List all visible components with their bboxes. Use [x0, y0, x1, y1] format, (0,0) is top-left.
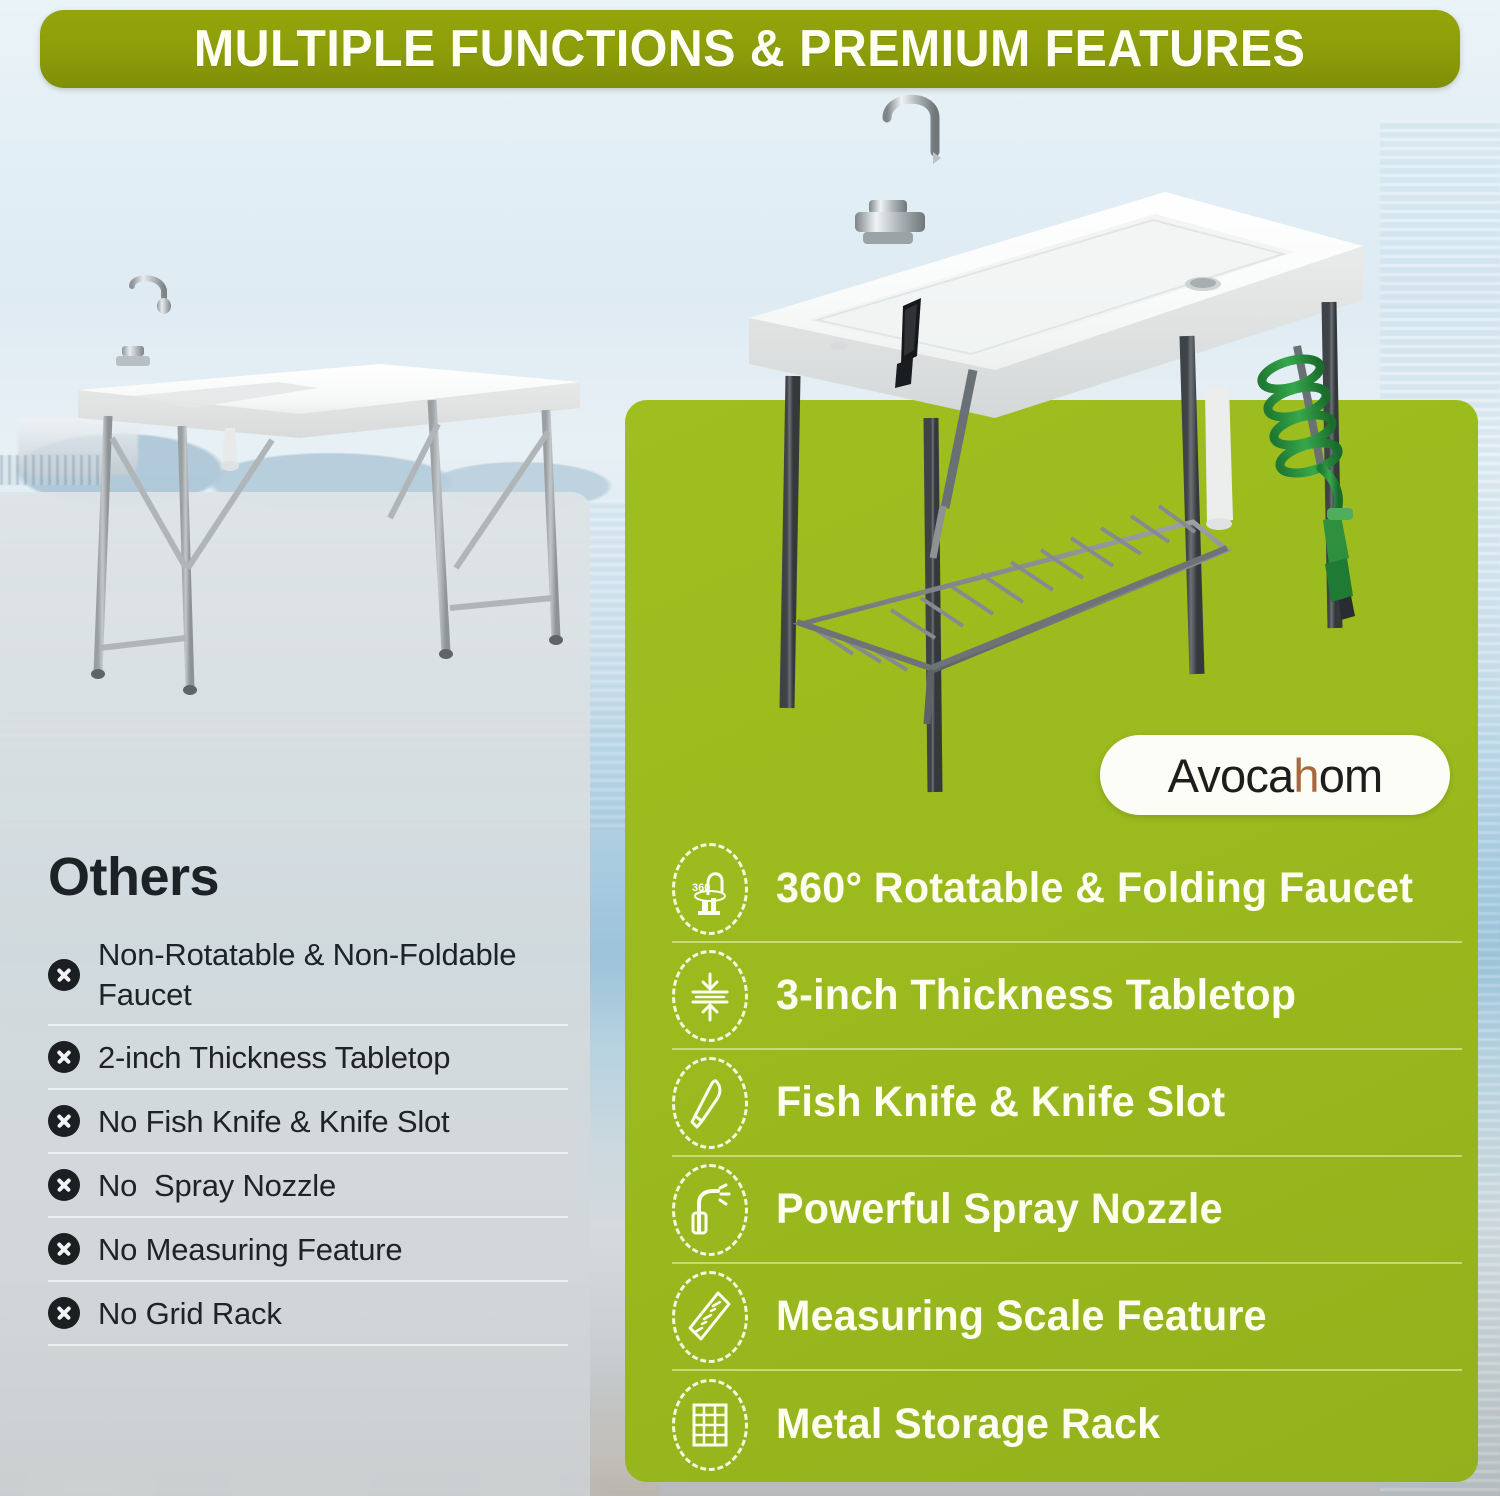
others-item-label: 2-inch Thickness Tabletop — [98, 1038, 450, 1078]
brand-name: Avocahom — [1168, 748, 1383, 803]
others-list-item: Non-Rotatable & Non-Foldable Faucet — [48, 925, 568, 1026]
x-circle-icon — [48, 1233, 80, 1265]
header-banner: MULTIPLE FUNCTIONS & PREMIUM FEATURES — [40, 10, 1460, 88]
grid-rack-icon — [672, 1379, 748, 1471]
brand-chair-h-icon: h — [1293, 749, 1318, 802]
others-list-item: 2-inch Thickness Tabletop — [48, 1026, 568, 1090]
brand-name-part1: Avoca — [1168, 749, 1294, 802]
others-list-item: No Fish Knife & Knife Slot — [48, 1090, 568, 1154]
others-item-label: No Fish Knife & Knife Slot — [98, 1102, 449, 1142]
others-item-label: No Spray Nozzle — [98, 1166, 336, 1206]
feature-list-item: Fish Knife & Knife Slot — [672, 1050, 1462, 1157]
avocahom-folding-table-photo — [735, 88, 1375, 818]
rotatable-faucet-icon: 360 — [672, 843, 748, 935]
others-list-item: No Grid Rack — [48, 1282, 568, 1346]
knife-icon — [672, 1057, 748, 1149]
others-item-label: No Grid Rack — [98, 1294, 282, 1334]
feature-item-label: Powerful Spray Nozzle — [776, 1185, 1223, 1234]
feature-list-item: Measuring Scale Feature — [672, 1264, 1462, 1371]
others-heading: Others — [48, 846, 219, 908]
x-circle-icon — [48, 1297, 80, 1329]
spray-nozzle-icon — [672, 1164, 748, 1256]
others-item-label: Non-Rotatable & Non-Foldable Faucet — [98, 935, 568, 1014]
feature-list-item: Metal Storage Rack — [672, 1371, 1462, 1478]
feature-list-item: Powerful Spray Nozzle — [672, 1157, 1462, 1264]
others-list: Non-Rotatable & Non-Foldable Faucet 2-in… — [48, 925, 568, 1346]
competitor-folding-table-photo — [60, 268, 630, 698]
feature-item-label: 360° Rotatable & Folding Faucet — [776, 864, 1413, 913]
brand-logo-badge: Avocahom — [1100, 735, 1450, 815]
feature-item-label: Metal Storage Rack — [776, 1400, 1160, 1449]
feature-item-label: Fish Knife & Knife Slot — [776, 1078, 1225, 1127]
x-circle-icon — [48, 1105, 80, 1137]
svg-text:360: 360 — [692, 882, 710, 894]
feature-item-label: Measuring Scale Feature — [776, 1292, 1267, 1341]
page-title: MULTIPLE FUNCTIONS & PREMIUM FEATURES — [194, 19, 1306, 79]
x-circle-icon — [48, 959, 80, 991]
features-list: 360 360° Rotatable & Folding Faucet 3-in… — [672, 836, 1462, 1478]
others-list-item: No Spray Nozzle — [48, 1154, 568, 1218]
others-item-label: No Measuring Feature — [98, 1230, 402, 1270]
feature-list-item: 360 360° Rotatable & Folding Faucet — [672, 836, 1462, 943]
others-list-item: No Measuring Feature — [48, 1218, 568, 1282]
ruler-icon — [672, 1271, 748, 1363]
x-circle-icon — [48, 1041, 80, 1073]
brand-name-part2: om — [1319, 749, 1383, 802]
x-circle-icon — [48, 1169, 80, 1201]
feature-list-item: 3-inch Thickness Tabletop — [672, 943, 1462, 1050]
thickness-arrows-icon — [672, 950, 748, 1042]
feature-item-label: 3-inch Thickness Tabletop — [776, 971, 1296, 1020]
